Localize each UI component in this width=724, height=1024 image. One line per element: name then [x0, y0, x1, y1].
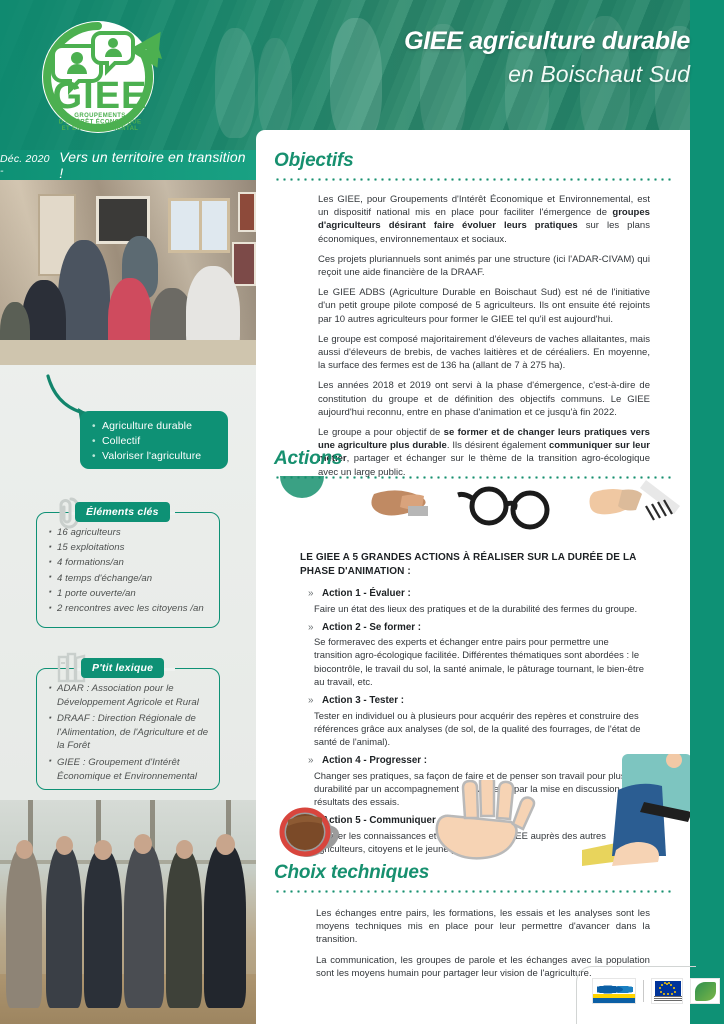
eu-caption-text	[654, 996, 682, 1002]
logo-tagline-1: GROUPEMENTS	[74, 113, 125, 119]
element-cle-item: 16 agriculteurs	[48, 526, 209, 540]
logo-brand-text: GIEE	[53, 75, 148, 117]
elements-cles-title: Éléments clés	[75, 502, 170, 522]
action-item: Action 3 - Tester : Tester en individuel…	[300, 695, 646, 748]
elements-cles-card: Éléments clés 16 agriculteurs 15 exploit…	[36, 512, 220, 628]
photo-meeting	[0, 180, 256, 365]
objectifs-paragraph: Le GIEE ADBS (Agriculture Durable en Boi…	[318, 286, 650, 326]
element-cle-item: 15 exploitations	[48, 541, 209, 555]
page-subtitle: en Boischaut Sud	[404, 61, 690, 88]
giee-logo: GIEE GROUPEMENTS D'INTÉRÊT ÉCONOMIQUE ET…	[28, 16, 180, 138]
keywords-box: Agriculture durable Collectif Valoriser …	[80, 411, 228, 469]
action-title: Action 3 - Tester :	[300, 695, 646, 706]
main-content-panel: Objectifs Les GIEE, pour Groupements d'I…	[256, 130, 690, 1024]
lexique-item: GIEE : Groupement d'Intérêt Économique e…	[48, 756, 209, 783]
objectifs-paragraph: Le groupe est composé majoritairement d'…	[318, 333, 650, 373]
section-objectifs: Objectifs Les GIEE, pour Groupements d'I…	[274, 150, 672, 486]
region-centre-val-de-loire-logo	[592, 978, 636, 1004]
element-cle-item: 4 formations/an	[48, 556, 209, 570]
choix-paragraph: Les échanges entre pairs, les formations…	[316, 907, 650, 947]
action-title: Action 2 - Se former :	[300, 622, 646, 633]
lexique-card: P'tit lexique ADAR : Association pour le…	[36, 668, 220, 790]
lexique-title: P'tit lexique	[81, 658, 164, 678]
actions-heading: Actions	[274, 448, 672, 470]
action-item: Action 1 - Évaluer : Faire un état des l…	[300, 588, 646, 615]
objectifs-paragraph: Les années 2018 et 2019 ont servi à la p…	[318, 379, 650, 419]
element-cle-item: 2 rencontres avec les citoyens /an	[48, 602, 209, 616]
actions-lead-text: LE GIEE A 5 GRANDES ACTIONS À RÉALISER S…	[300, 551, 646, 579]
keyword-item: Valoriser l'agriculture	[92, 449, 218, 464]
footer-logos	[592, 978, 720, 1004]
glasses-icon	[458, 489, 547, 527]
action-body: Se formeravec des experts et échanger en…	[300, 635, 646, 688]
right-accent-strip	[690, 0, 724, 1024]
logo-tagline-3: ET ENVIRONNEMENTAL	[62, 126, 139, 132]
hand-pointing-icon	[371, 490, 428, 516]
logo-divider	[643, 980, 644, 1002]
objectifs-paragraph: Ces projets pluriannuels sont animés par…	[318, 253, 650, 279]
action-body: Faire un état des lieux des pratiques et…	[300, 602, 646, 615]
keyword-item: Collectif	[92, 434, 218, 449]
objectifs-body: Les GIEE, pour Groupements d'Intérêt Éco…	[274, 181, 672, 479]
page-header: GIEE GROUPEMENTS D'INTÉRÊT ÉCONOMIQUE ET…	[0, 0, 724, 150]
half-circle-shape	[280, 476, 324, 498]
page-title: GIEE agriculture durable	[404, 28, 690, 56]
objectifs-paragraph: Les GIEE, pour Groupements d'Intérêt Éco…	[318, 193, 650, 246]
coffee-cup-icon	[278, 802, 340, 864]
lexique-item: ADAR : Association pour le Développement…	[48, 682, 209, 709]
banner-date: Déc. 2020 -	[0, 153, 54, 177]
actions-illustration-band	[274, 476, 690, 532]
objectifs-heading: Objectifs	[274, 150, 672, 172]
keyword-item: Agriculture durable	[92, 419, 218, 434]
choix-techniques-heading: Choix techniques	[274, 862, 672, 884]
date-banner: Déc. 2020 - Vers un territoire en transi…	[0, 150, 256, 180]
photo-group-outdoor	[0, 800, 256, 1024]
action-title: Action 1 - Évaluer :	[300, 588, 646, 599]
european-union-logo	[651, 978, 683, 1004]
eu-flag-icon	[655, 981, 681, 996]
action-item: Action 2 - Se former : Se formeravec des…	[300, 622, 646, 688]
banner-tagline: Vers un territoire en transition !	[59, 149, 246, 181]
element-cle-item: 1 porte ouverte/an	[48, 587, 209, 601]
element-cle-item: 4 temps d'échange/an	[48, 572, 209, 586]
feader-leader-logo	[690, 978, 720, 1004]
action-body: Tester en individuel ou à plusieurs pour…	[300, 709, 646, 749]
lexique-item: DRAAF : Direction Régionale de l'Aliment…	[48, 712, 209, 753]
header-title-block: GIEE agriculture durable en Boischaut Su…	[404, 28, 690, 88]
poster-page: GIEE GROUPEMENTS D'INTÉRÊT ÉCONOMIQUE ET…	[0, 0, 724, 1024]
logo-tagline-2: D'INTÉRÊT ÉCONOMIQUE	[59, 118, 142, 126]
hand-with-pencil-icon	[590, 480, 681, 520]
